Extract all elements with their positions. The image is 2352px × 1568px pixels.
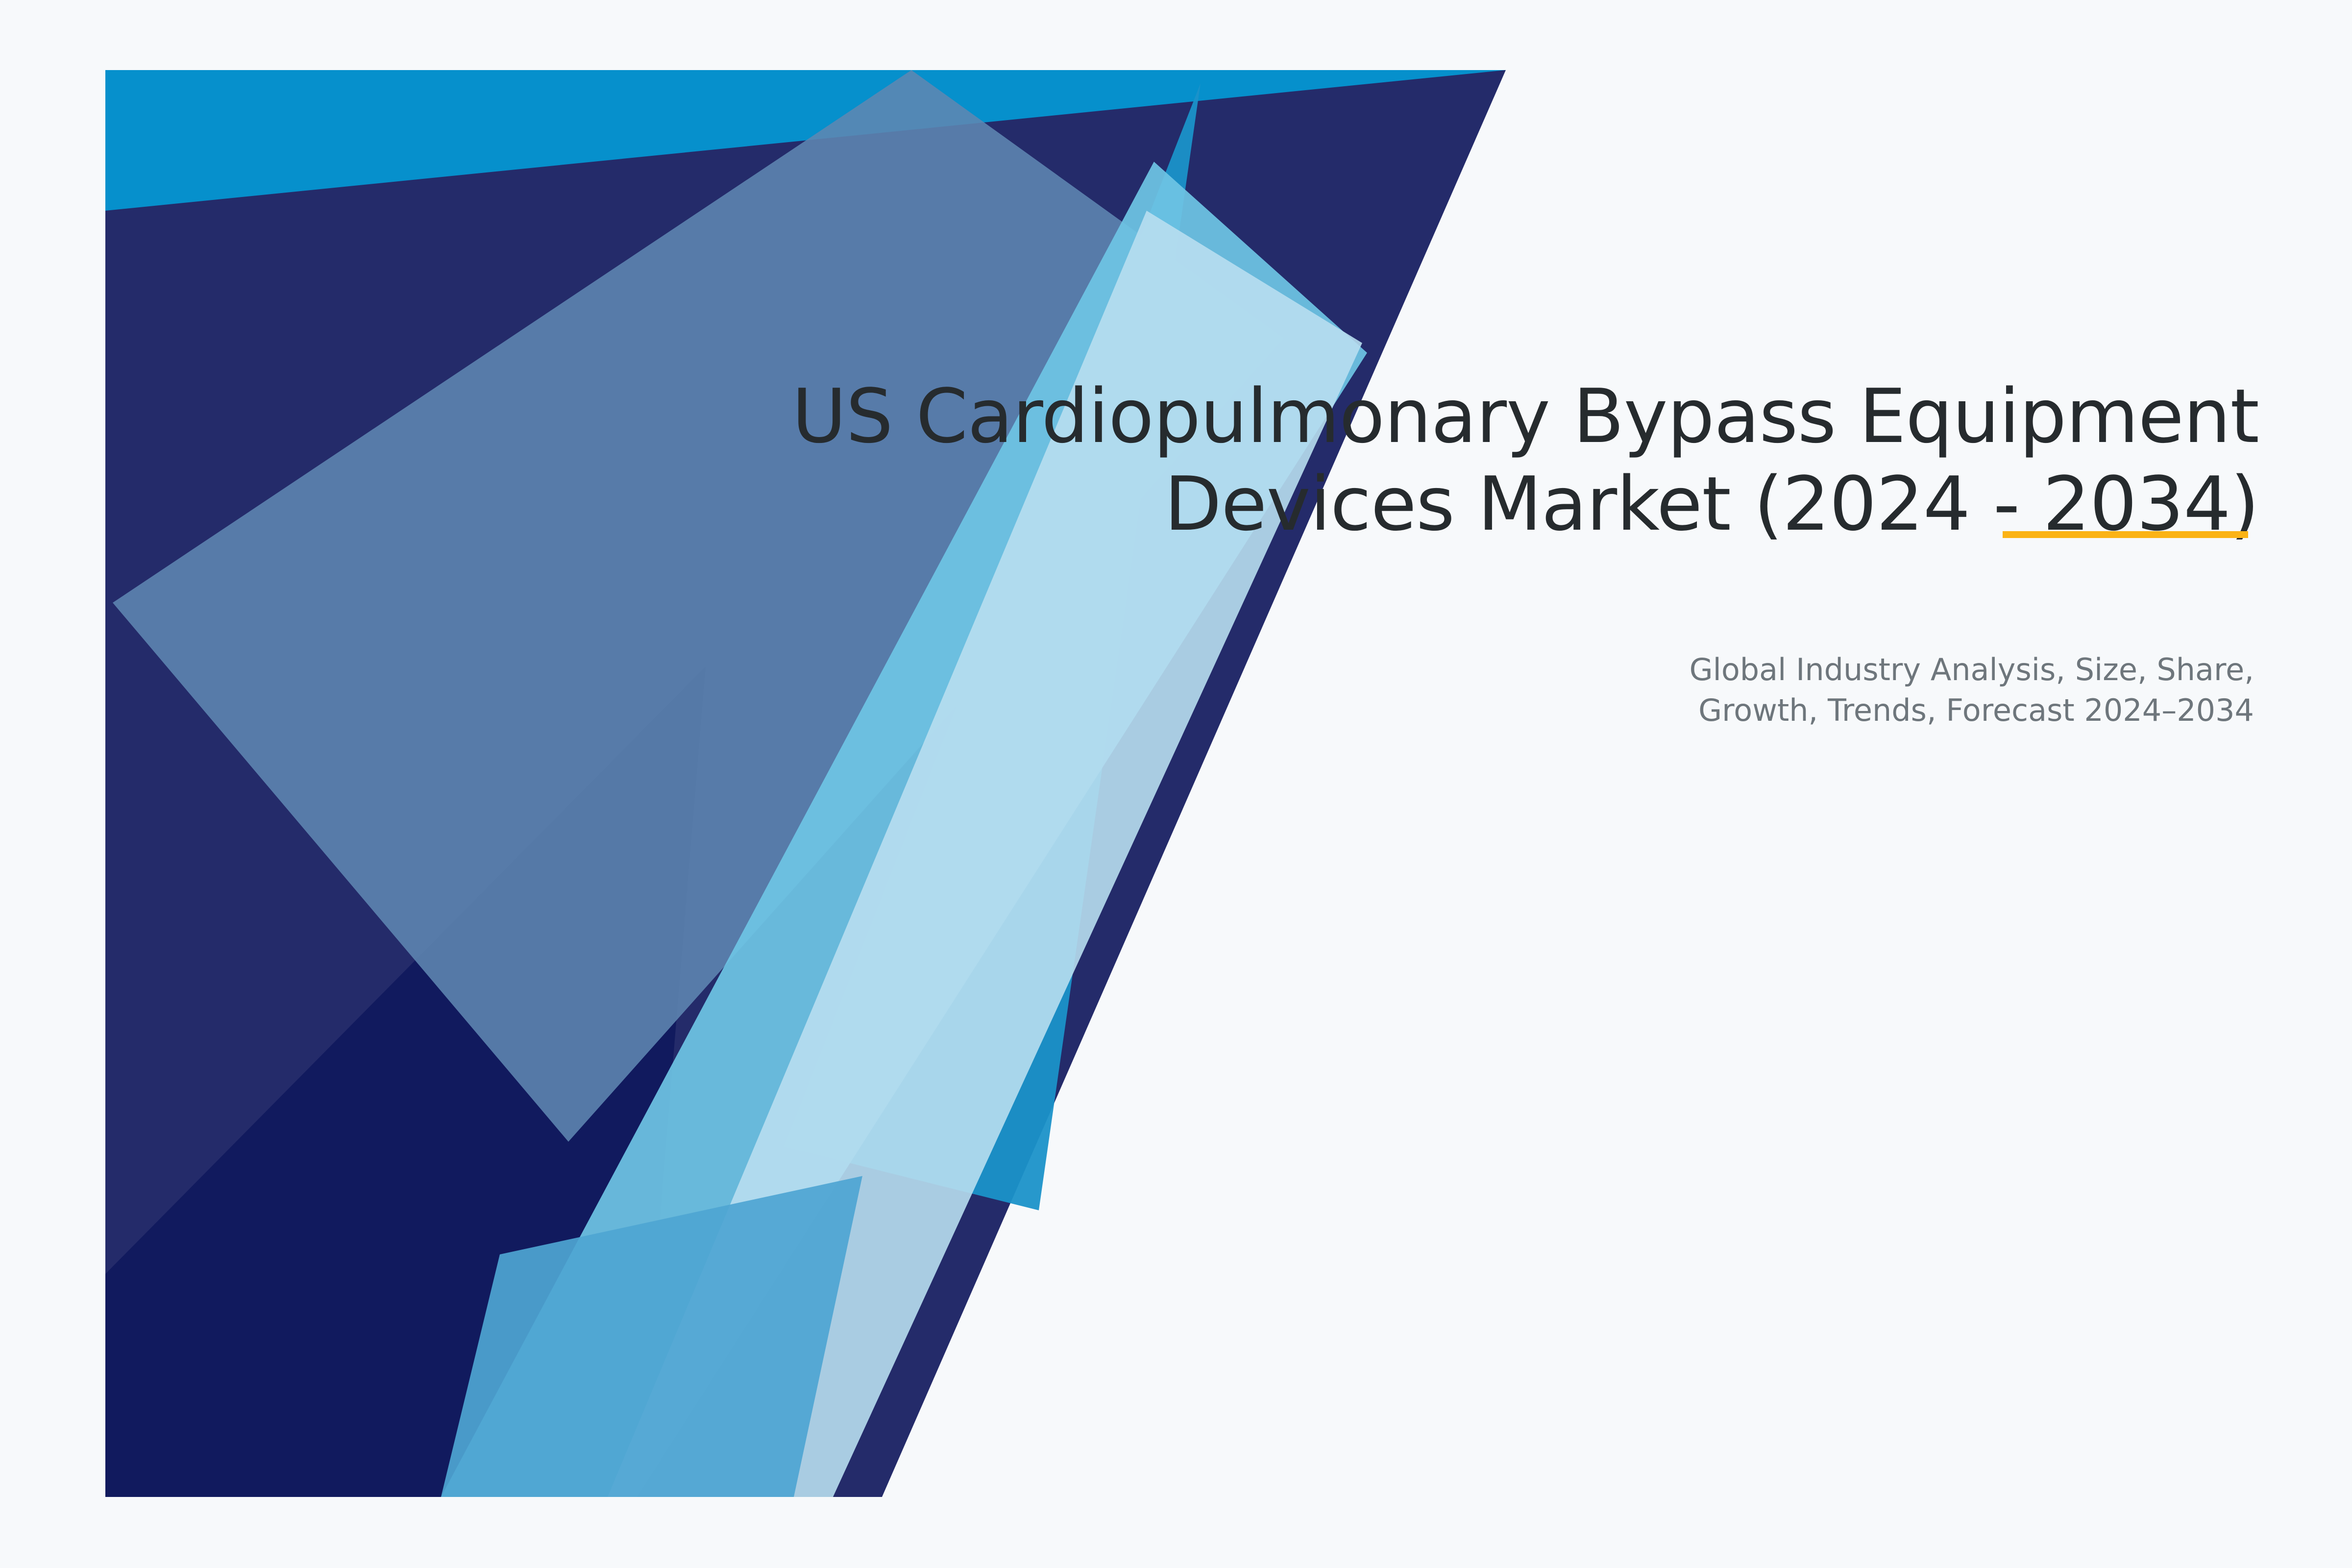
title-accent-underline [2003,531,2248,538]
page-title: US Cardiopulmonary Bypass Equipment Devi… [588,372,2259,548]
title-block: US Cardiopulmonary Bypass Equipment Devi… [588,372,2259,548]
cover-page: US Cardiopulmonary Bypass Equipment Devi… [0,0,2352,1568]
page-subtitle: Global Industry Analysis, Size, Share, G… [1421,649,2254,731]
abstract-geometric-cover-graphic [0,0,2352,1568]
